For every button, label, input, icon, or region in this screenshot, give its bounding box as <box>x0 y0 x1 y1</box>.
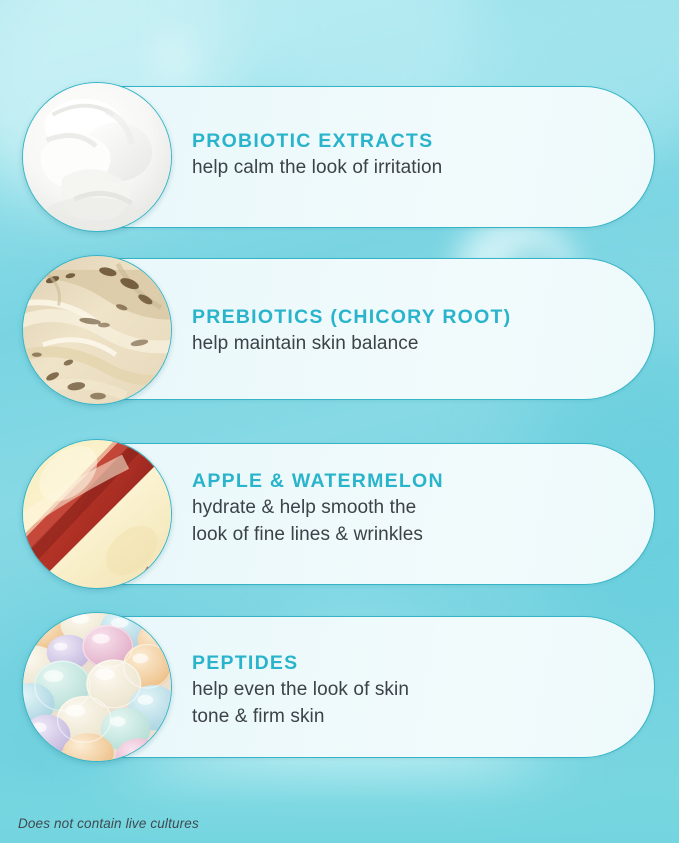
benefit-copy-prebiotics-chicory-root: PREBIOTICS (CHICORY ROOT) help maintain … <box>192 306 639 358</box>
benefit-headline: PEPTIDES <box>192 652 639 675</box>
benefit-headline: APPLE & WATERMELON <box>192 470 639 493</box>
benefit-headline: PREBIOTICS (CHICORY ROOT) <box>192 306 639 329</box>
benefit-subline-line-1: help even the look of skin <box>192 679 409 700</box>
benefit-subline-line-2: tone & firm skin <box>192 704 639 730</box>
benefit-copy-probiotic-extracts: PROBIOTIC EXTRACTS help calm the look of… <box>192 130 639 182</box>
benefit-subline: hydrate & help smooth the look of fine l… <box>192 495 639 547</box>
gel-beads-photo <box>22 612 172 762</box>
chicory-root-photo <box>22 255 172 405</box>
apple-slice-photo <box>22 439 172 589</box>
benefit-subline: help maintain skin balance <box>192 331 639 357</box>
ingredient-benefits-infographic: PROBIOTIC EXTRACTS help calm the look of… <box>0 0 679 843</box>
benefit-subline: help even the look of skin tone & firm s… <box>192 677 639 729</box>
benefit-headline: PROBIOTIC EXTRACTS <box>192 130 639 153</box>
cream-swirl-photo <box>22 82 172 232</box>
benefit-subline-line-2: look of fine lines & wrinkles <box>192 522 639 548</box>
benefit-subline-line-1: help maintain skin balance <box>192 333 419 354</box>
benefit-subline-line-1: hydrate & help smooth the <box>192 497 416 518</box>
benefit-subline-line-1: help calm the look of irritation <box>192 157 442 178</box>
disclaimer-footnote: Does not contain live cultures <box>18 816 199 831</box>
benefit-copy-apple-watermelon: APPLE & WATERMELON hydrate & help smooth… <box>192 470 639 548</box>
benefit-subline: help calm the look of irritation <box>192 155 639 181</box>
benefit-copy-peptides: PEPTIDES help even the look of skin tone… <box>192 652 639 730</box>
